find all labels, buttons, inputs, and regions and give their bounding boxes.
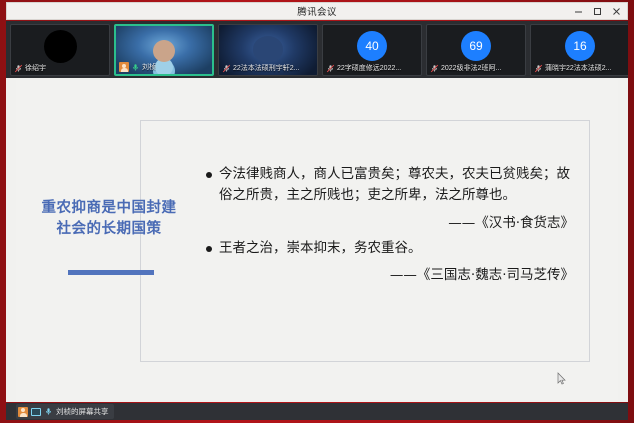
window-title: 腾讯会议 — [297, 4, 337, 18]
screen-share-icon — [31, 408, 41, 416]
bullet-dot-icon — [206, 246, 212, 252]
tile-footer: 22法本法硕刑宇轩2... — [219, 62, 317, 75]
video-placeholder — [44, 30, 77, 63]
mouse-cursor-icon — [557, 372, 566, 385]
quote-text: 王者之治，崇本抑末，务农重谷。 — [219, 238, 422, 259]
minimize-button[interactable] — [570, 3, 587, 19]
mic-muted-icon — [222, 64, 231, 73]
avatar: 69 — [461, 31, 491, 61]
mic-on-icon — [44, 407, 53, 416]
mic-on-icon — [131, 63, 140, 72]
participant-filmstrip[interactable]: 徐绍宇 刘桢 — [6, 21, 628, 78]
tile-footer: 2022级非法2班阿... — [427, 62, 525, 75]
close-button[interactable] — [608, 3, 625, 19]
mic-muted-icon — [430, 64, 439, 73]
mic-muted-icon — [326, 64, 335, 73]
bullet-row: 今法律贱商人，商人已富贵矣；尊农夫，农夫已贫贱矣；故俗之所贵，主之所贱也；吏之所… — [206, 164, 578, 207]
heading-underline-rule — [68, 270, 154, 275]
participant-tile-active-speaker[interactable]: 刘桢 — [114, 24, 214, 76]
host-badge-icon — [119, 62, 129, 72]
bullet-row: 王者之治，崇本抑末，务农重谷。 — [206, 238, 578, 259]
maximize-button[interactable] — [589, 3, 606, 19]
participant-tile[interactable]: 40 22字硕度修远2022... — [322, 24, 422, 76]
quote-block: 今法律贱商人，商人已富贵矣；尊农夫，农夫已贫贱矣；故俗之所贵，主之所贱也；吏之所… — [206, 164, 578, 231]
participant-tile[interactable]: 徐绍宇 — [10, 24, 110, 76]
participant-name: 22字硕度修远2022... — [337, 63, 401, 73]
participant-name: 2022级非法2班阿... — [441, 63, 501, 73]
quote-block: 王者之治，崇本抑末，务农重谷。 ——《三国志·魏志·司马芝传》 — [206, 238, 578, 283]
mic-muted-icon — [534, 64, 543, 73]
quote-text: 今法律贱商人，商人已富贵矣；尊农夫，农夫已贫贱矣；故俗之所贵，主之所贱也；吏之所… — [219, 164, 578, 207]
person-icon — [18, 407, 28, 417]
participant-name: 徐绍宇 — [25, 63, 46, 73]
participant-name: 22法本法硕刑宇轩2... — [233, 63, 300, 73]
avatar: 16 — [565, 31, 595, 61]
slide-canvas: 重农抑商是中国封建社会的长期国策 今法律贱商人，商人已富贵矣；尊农夫，农夫已贫贱… — [16, 80, 618, 400]
quote-source: ——《汉书·食货志》 — [206, 211, 578, 231]
tencent-meeting-window: 腾讯会议 徐绍宇 — [0, 0, 634, 423]
tile-footer: 徐绍宇 — [11, 62, 109, 75]
participant-tile[interactable]: 22法本法硕刑宇轩2... — [218, 24, 318, 76]
tile-footer: 刘桢 — [116, 61, 212, 74]
tile-footer: 蒲晓宇22法本法硕2... — [531, 62, 628, 75]
presentation-slide: 重农抑商是中国封建社会的长期国策 今法律贱商人，商人已富贵矣；尊农夫，农夫已贫贱… — [6, 78, 628, 402]
participant-name: 刘桢 — [142, 62, 156, 72]
tile-footer: 22字硕度修远2022... — [323, 62, 421, 75]
bullet-dot-icon — [206, 172, 212, 178]
participant-tile[interactable]: 16 蒲晓宇22法本法硕2... — [530, 24, 628, 76]
shared-screen-stage[interactable]: 重农抑商是中国封建社会的长期国策 今法律贱商人，商人已富贵矣；尊农夫，农夫已贫贱… — [6, 78, 628, 402]
participant-name: 蒲晓宇22法本法硕2... — [545, 63, 612, 73]
slide-body: 今法律贱商人，商人已富贵矣；尊农夫，农夫已贫贱矣；故俗之所贵，主之所贱也；吏之所… — [206, 164, 578, 283]
quote-source: ——《三国志·魏志·司马芝传》 — [206, 263, 578, 283]
participant-tile[interactable]: 69 2022级非法2班阿... — [426, 24, 526, 76]
window-controls — [570, 3, 625, 19]
mic-muted-icon — [14, 64, 23, 73]
title-bar[interactable]: 腾讯会议 — [6, 2, 628, 20]
screen-share-status-chip[interactable]: 刘桢的屏幕共享 — [16, 404, 114, 419]
avatar: 40 — [357, 31, 387, 61]
bottom-status-bar: 刘桢的屏幕共享 — [6, 403, 628, 420]
slide-heading: 重农抑商是中国封建社会的长期国策 — [38, 198, 180, 240]
share-status-label: 刘桢的屏幕共享 — [56, 406, 109, 417]
